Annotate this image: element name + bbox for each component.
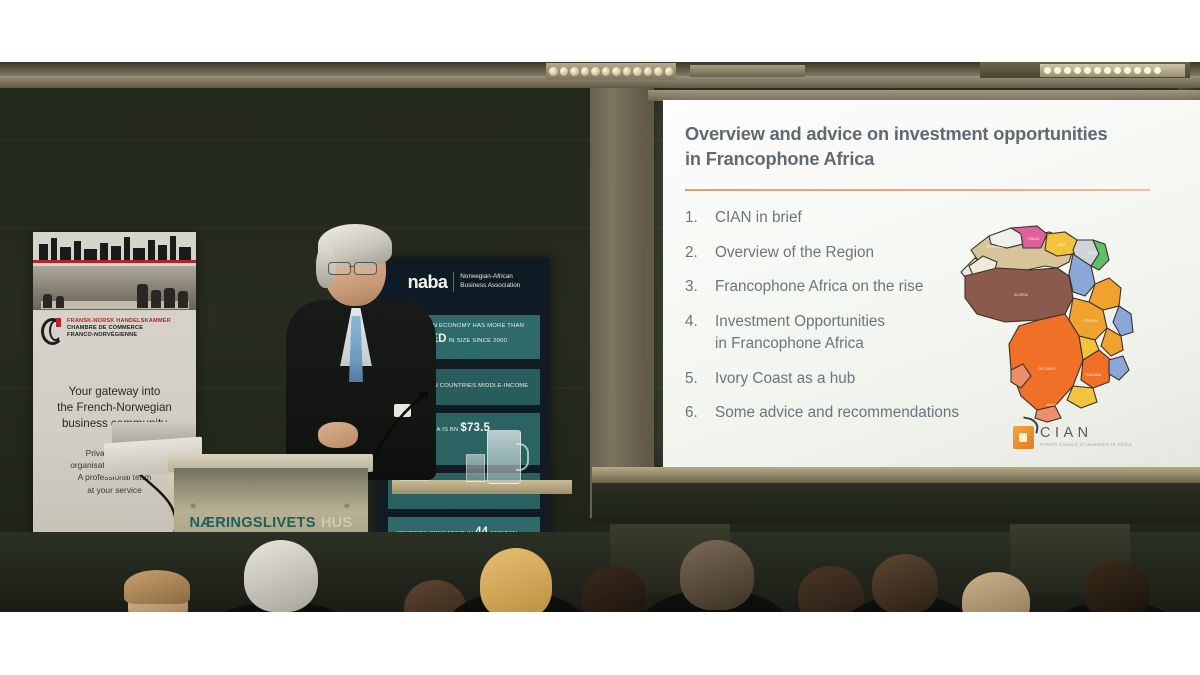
audience-head [1084,560,1150,612]
audience [0,462,1200,612]
slide-title-line1: Overview and advice on investment opport… [685,122,1155,147]
slide-title-line2: in Francophone Africa [685,147,1155,172]
svg-text:TANZANIA: TANZANIA [1084,373,1102,377]
list-item-number: 6. [685,403,701,423]
screenshot-root: Overview and advice on investment opport… [0,0,1200,675]
skyline-graphic [33,232,196,266]
ceiling-light-fixture [546,63,676,80]
audience-head [680,540,754,610]
list-item-number: 3. [685,277,701,297]
ccfn-logo-line3: FRANCO-NORVÉGIENNE [67,332,171,339]
naba-fact-big: $73.5 [460,422,490,434]
svg-text:ALGERIA: ALGERIA [1014,293,1029,297]
list-item-number-blank [685,334,701,354]
projection-screen: Overview and advice on investment opport… [663,100,1200,467]
ccfn-logo: FRANSK-NORSK HANDELSKAMMER CHAMBRE DE CO… [41,318,191,348]
africa-map-image: ALGERIA MOROCCO TUNISIA LIBYA EGYPT DR C… [953,210,1138,425]
conference-photo: Overview and advice on investment opport… [0,62,1200,612]
ccfn-tagline-line2: the French-Norwegian [33,400,196,416]
ccfn-tagline-line1: Your gateway into [33,384,196,400]
naba-subtitle: Norwegian-African Business Association [460,273,520,290]
svg-text:MOROCCO: MOROCCO [987,245,1004,249]
slide-title: Overview and advice on investment opport… [685,122,1155,172]
audience-head [582,566,646,612]
audience-head [244,540,318,612]
list-item-number: 1. [685,208,701,228]
ceiling-lamp-array [1040,64,1185,77]
letterbox-top [0,0,1200,62]
naba-subtitle-line1: Norwegian-African [460,273,513,280]
cian-logo-tagline: French Council of Investors in Africa [1040,443,1132,448]
speaker-glasses [328,262,382,273]
audience-head [962,572,1030,612]
slide-accent-rule [685,189,1150,191]
cian-mark-icon [1013,426,1034,449]
svg-text:EGYPT: EGYPT [1088,251,1098,255]
ccfn-banner-photo [33,232,196,310]
svg-text:DR CONGO: DR CONGO [1038,367,1056,371]
ccfn-banner-meeting-photo [33,266,196,310]
naba-fact-post: IN SIZE SINCE 2000 [448,338,507,344]
list-item-number: 2. [685,243,701,263]
cian-logo-name: CIAN [1040,426,1132,441]
ccfn-logo-line2: CHAMBRE DE COMMERCE [67,325,171,332]
cci-monogram-icon [41,318,62,340]
wall-pillar [590,88,654,518]
list-item-number: 5. [685,369,701,389]
naba-subtitle-line2: Business Association [460,282,520,289]
cian-logo: CIAN French Council of Investors in Afri… [1013,418,1173,456]
audience-head [872,554,938,612]
audience-head [798,566,864,612]
svg-text:ANGOLA: ANGOLA [1046,403,1060,407]
letterbox-bottom [0,612,1200,675]
audience-hair [124,570,190,604]
list-item-number: 4. [685,312,701,332]
ceiling-light-fixture-secondary [690,65,805,77]
svg-text:TUNISIA: TUNISIA [1026,237,1041,241]
audience-head [480,548,552,612]
ccfn-logo-line1: FRANSK-NORSK HANDELSKAMMER [67,318,171,325]
svg-text:ETHIOPIA: ETHIOPIA [1084,319,1100,323]
svg-text:LIBYA: LIBYA [1057,243,1066,247]
